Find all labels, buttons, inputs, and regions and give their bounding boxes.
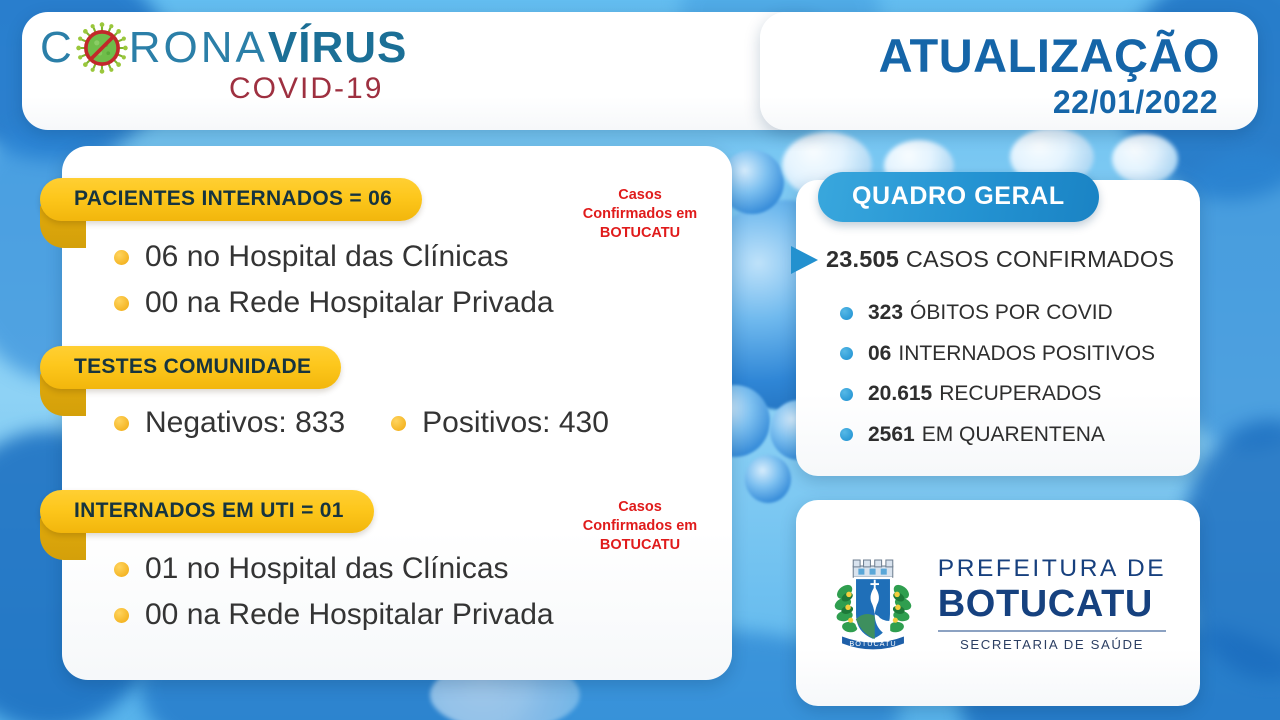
stat-row-internados: 06 INTERNADOS POSITIVOS — [840, 334, 1155, 375]
pill-label: PACIENTES INTERNADOS = 06 — [40, 178, 422, 221]
pill-label: INTERNADOS EM UTI = 01 — [40, 490, 374, 533]
note-casos-confirmados: Casos Confirmados em BOTUCATU — [560, 498, 720, 555]
pill-testes-comunidade: TESTES COMUNIDADE — [40, 346, 341, 389]
prefeitura-line-2: BOTUCATU — [938, 583, 1166, 625]
prefeitura-wordmark: PREFEITURA DE BOTUCATU SECRETARIA DE SAÚ… — [938, 555, 1166, 652]
pill-internados-uti: INTERNADOS EM UTI = 01 — [40, 490, 374, 533]
stat-label: EM QUARENTENA — [922, 415, 1105, 456]
stat-label: INTERNADOS POSITIVOS — [898, 334, 1155, 375]
note-line-1: Casos — [560, 186, 720, 205]
pill-pacientes-internados: PACIENTES INTERNADOS = 06 — [40, 178, 422, 221]
note-line-2: Confirmados em — [560, 517, 720, 536]
list-item-label: 00 na Rede Hospitalar Privada — [145, 280, 554, 326]
arrow-right-icon — [791, 246, 818, 274]
list-item-label: 06 no Hospital das Clínicas — [145, 234, 509, 280]
bullet-dot-icon — [114, 250, 129, 265]
list-item: 01 no Hospital das Clínicas — [114, 546, 554, 592]
list-item-label: 01 no Hospital das Clínicas — [145, 546, 509, 592]
stat-row-recuperados: 20.615 RECUPERADOS — [840, 374, 1155, 415]
stat-value: 2561 — [868, 415, 915, 456]
stat-row-quarentena: 2561 EM QUARENTENA — [840, 415, 1155, 456]
list-item: 00 na Rede Hospitalar Privada — [114, 280, 554, 326]
list-item-label: Negativos: 833 — [145, 400, 345, 446]
headline-label: CASOS CONFIRMADOS — [906, 246, 1174, 272]
bullet-dot-icon — [114, 562, 129, 577]
left-statistics-card: PACIENTES INTERNADOS = 06 Casos Confirma… — [62, 146, 732, 680]
logo-corona-rest: RONA — [129, 23, 268, 73]
note-line-3: BOTUCATU — [560, 536, 720, 555]
coronavirus-logo: C — [40, 22, 407, 106]
page-title: ATUALIZAÇÃO — [879, 28, 1220, 83]
botucatu-coat-of-arms-icon: BOTUCATU — [830, 554, 916, 652]
quadro-geral-stats: 323 ÓBITOS POR COVID 06 INTERNADOS POSIT… — [840, 293, 1155, 455]
bullet-dot-icon — [840, 428, 853, 441]
list-item: 06 no Hospital das Clínicas — [114, 234, 554, 280]
coronavirus-icon — [76, 22, 128, 74]
note-line-3: BOTUCATU — [560, 224, 720, 243]
bullet-dot-icon — [840, 388, 853, 401]
prefeitura-logo-card: BOTUCATU PREFEITURA DE BOTUCATU SECRETAR… — [796, 500, 1200, 706]
bullet-dot-icon — [840, 347, 853, 360]
update-date: 22/01/2022 — [1053, 84, 1218, 121]
headline-casos-confirmados: 23.505 CASOS CONFIRMADOS — [826, 246, 1174, 273]
prefeitura-line-1: PREFEITURA DE — [938, 555, 1166, 583]
bg-bokeh — [1112, 134, 1178, 184]
headline-value: 23.505 — [826, 246, 899, 272]
logo-corona-c: C — [40, 23, 75, 73]
list-item-label: 00 na Rede Hospitalar Privada — [145, 592, 554, 638]
logo-wordmark: C — [40, 22, 407, 74]
bullet-dot-icon — [114, 296, 129, 311]
list-item-label: Positivos: 430 — [422, 400, 609, 446]
quadro-geral-card: 23.505 CASOS CONFIRMADOS 323 ÓBITOS POR … — [796, 180, 1200, 476]
logo-virus-word: VÍRUS — [268, 23, 407, 73]
inline-list: Negativos: 833 Positivos: 430 — [114, 400, 609, 446]
note-casos-confirmados: Casos Confirmados em BOTUCATU — [560, 186, 720, 243]
bg-virus-spike — [745, 455, 791, 503]
coat-banner-text: BOTUCATU — [849, 639, 896, 648]
list-internados-uti: 01 no Hospital das Clínicas 00 na Rede H… — [114, 546, 554, 638]
note-line-1: Casos — [560, 498, 720, 517]
divider — [938, 630, 1166, 632]
bullet-dot-icon — [391, 416, 406, 431]
stat-row-obitos: 323 ÓBITOS POR COVID — [840, 293, 1155, 334]
stat-value: 323 — [868, 293, 903, 334]
list-item: 00 na Rede Hospitalar Privada — [114, 592, 554, 638]
prefeitura-line-3: SECRETARIA DE SAÚDE — [938, 637, 1166, 652]
quadro-geral-header-pill: QUADRO GERAL — [818, 172, 1099, 222]
stat-label: RECUPERADOS — [939, 374, 1101, 415]
note-line-2: Confirmados em — [560, 205, 720, 224]
list-item: Positivos: 430 — [391, 400, 609, 446]
bullet-dot-icon — [114, 416, 129, 431]
stat-value: 06 — [868, 334, 891, 375]
list-pacientes-internados: 06 no Hospital das Clínicas 00 na Rede H… — [114, 234, 554, 326]
bullet-dot-icon — [114, 608, 129, 623]
stat-value: 20.615 — [868, 374, 932, 415]
bullet-dot-icon — [840, 307, 853, 320]
pill-label: TESTES COMUNIDADE — [40, 346, 341, 389]
list-item: Negativos: 833 — [114, 400, 345, 446]
logo-covid-19: COVID-19 — [40, 72, 407, 106]
list-testes-comunidade: Negativos: 833 Positivos: 430 — [114, 400, 609, 446]
stat-label: ÓBITOS POR COVID — [910, 293, 1113, 334]
